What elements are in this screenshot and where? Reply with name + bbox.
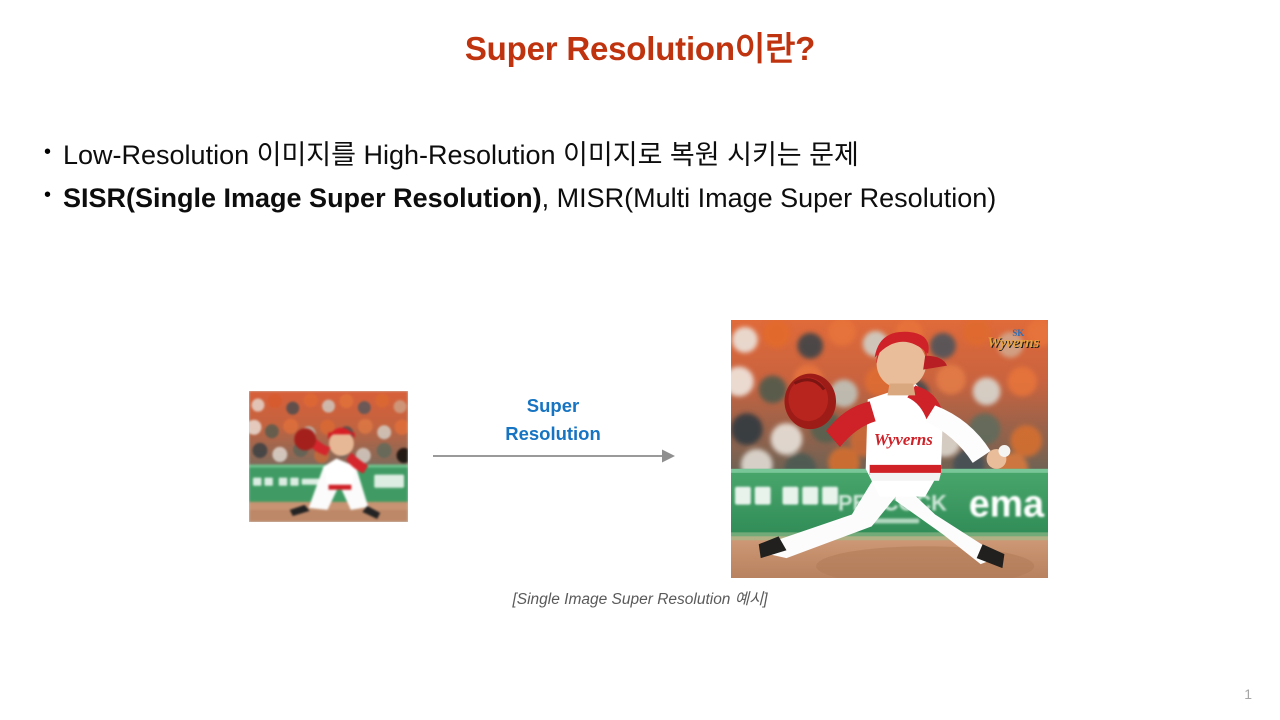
arrow-label-line1: Super: [432, 392, 674, 420]
bullet-text-bold: SISR(Single Image Super Resolution): [63, 183, 542, 213]
bullet-text-normal: Low-Resolution 이미지를 High-Resolution 이미지로…: [63, 140, 859, 170]
high-resolution-image: SK Wyverns Wyverns PEACOCK ema: [731, 320, 1048, 578]
bullet-text: SISR(Single Image Super Resolution), MIS…: [63, 179, 996, 217]
bullet-marker-icon: •: [44, 179, 63, 211]
right-arrow-icon: [430, 446, 678, 466]
figure-area: Super Resolution: [0, 300, 1280, 620]
bullet-text: Low-Resolution 이미지를 High-Resolution 이미지로…: [63, 136, 859, 174]
list-item: • Low-Resolution 이미지를 High-Resolution 이미…: [44, 136, 1234, 174]
page-number: 1: [1244, 686, 1252, 702]
list-item: • SISR(Single Image Super Resolution), M…: [44, 179, 1234, 217]
arrow-label-line2: Resolution: [432, 420, 674, 448]
bullet-list: • Low-Resolution 이미지를 High-Resolution 이미…: [44, 136, 1234, 223]
figure-caption: [Single Image Super Resolution 예시]: [0, 587, 1280, 609]
arrow-label: Super Resolution: [432, 392, 674, 448]
bullet-marker-icon: •: [44, 136, 63, 168]
page-title: Super Resolution이란?: [0, 22, 1280, 70]
low-resolution-image: [249, 391, 408, 522]
svg-text:ema: ema: [969, 482, 1045, 524]
bullet-text-normal: , MISR(Multi Image Super Resolution): [542, 183, 997, 213]
svg-text:Wyverns: Wyverns: [987, 335, 1039, 351]
svg-text:Wyverns: Wyverns: [874, 430, 933, 449]
